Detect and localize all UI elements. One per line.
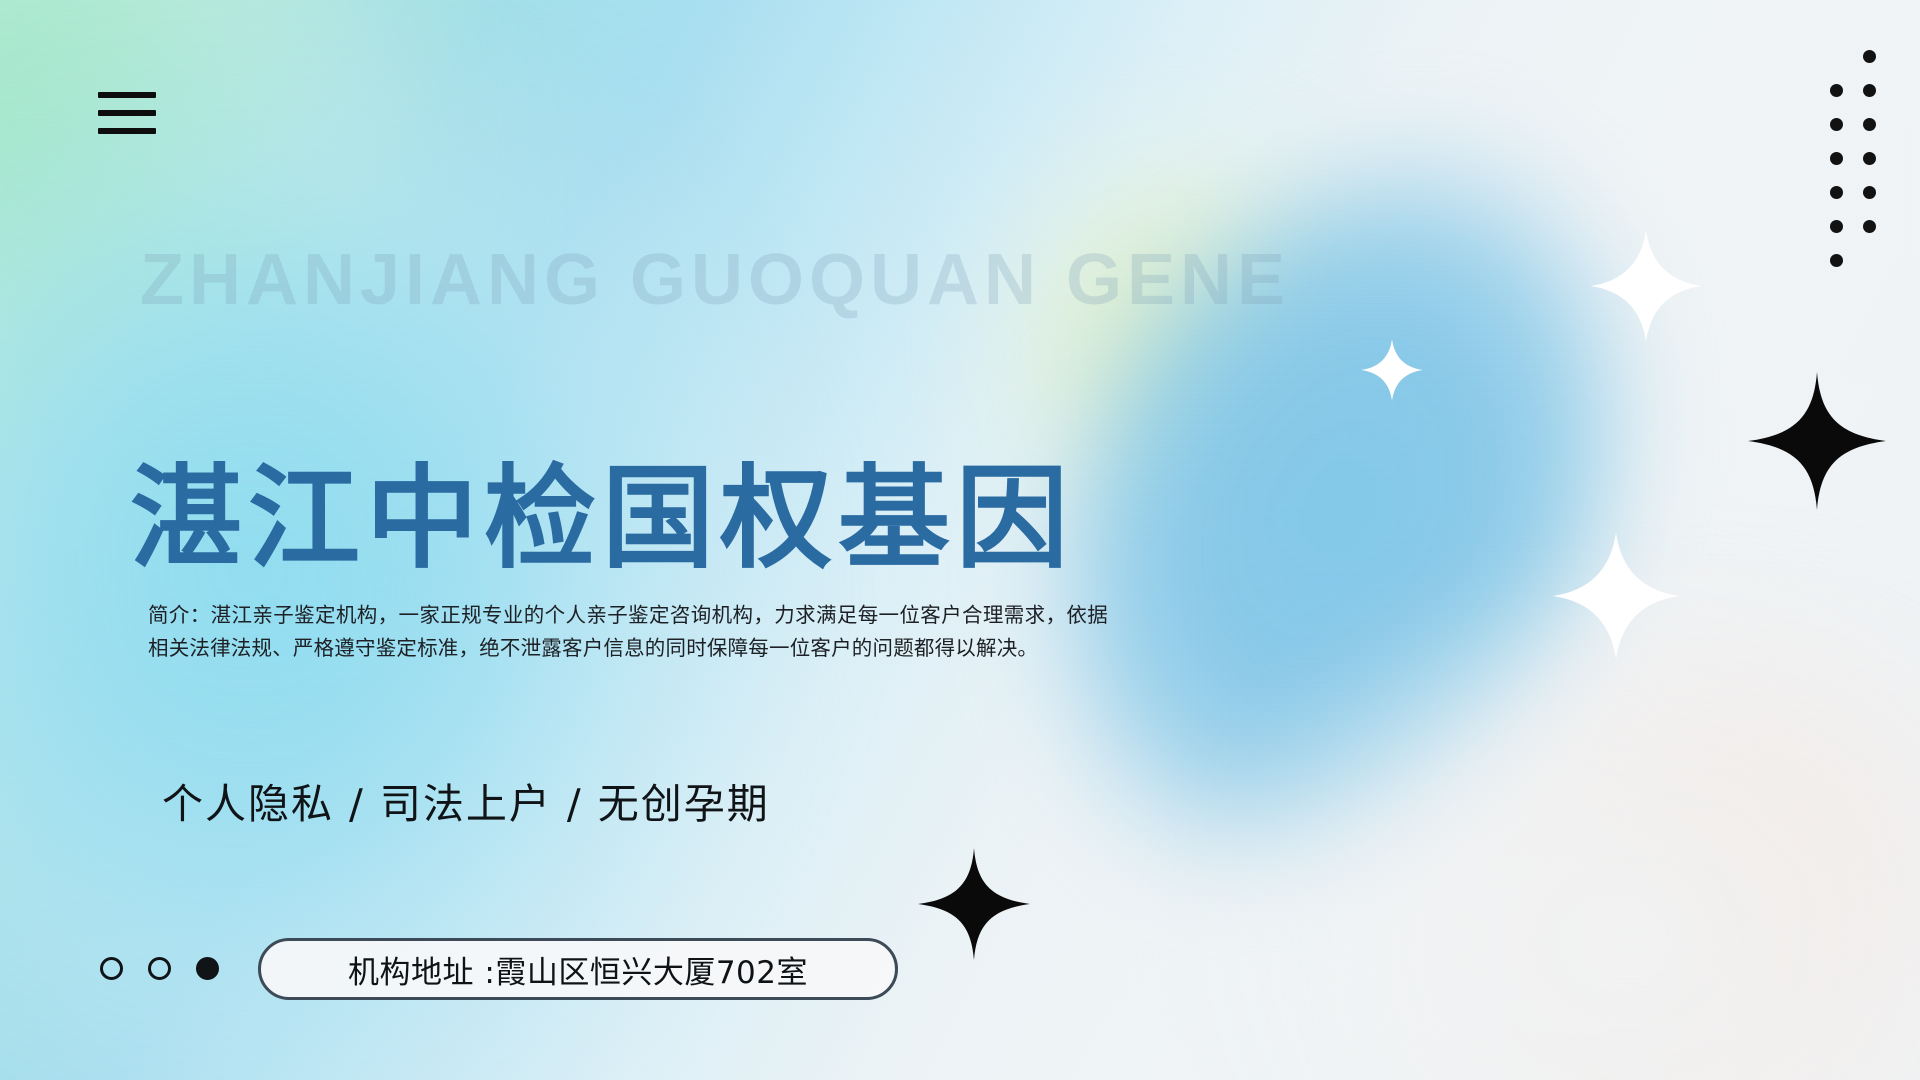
menu-bar-3 (98, 128, 156, 134)
pager-dot-2[interactable] (148, 957, 171, 980)
grid-dot (1830, 152, 1843, 165)
grid-dot (1863, 186, 1876, 199)
menu-bar-2 (98, 110, 156, 116)
grid-dot (1863, 220, 1876, 233)
watermark-text: ZHANJIANG GUOQUAN GENE (140, 244, 1290, 316)
grid-dot (1863, 84, 1876, 97)
grid-dot (1830, 186, 1843, 199)
sparkle-white-large-mid (1550, 530, 1682, 662)
address-pill[interactable]: 机构地址 :霞山区恒兴大厦702室 (258, 938, 898, 1000)
grid-dot (1830, 220, 1843, 233)
grid-dot (1863, 118, 1876, 131)
grid-dot (1830, 254, 1843, 267)
hamburger-menu-icon[interactable] (98, 92, 156, 134)
sparkle-black-bottom (918, 848, 1030, 960)
poster-canvas: ZHANJIANG GUOQUAN GENE 湛江中检国权基因 简介：湛江亲子鉴… (0, 0, 1920, 1080)
grid-dot (1830, 118, 1843, 131)
grid-dot (1863, 152, 1876, 165)
address-label: 机构地址 :霞山区恒兴大厦702室 (348, 947, 808, 992)
page-title: 湛江中检国权基因 (130, 457, 1074, 582)
sparkle-white-large-top (1588, 228, 1704, 344)
pager-dot-1[interactable] (100, 957, 123, 980)
content-layer: ZHANJIANG GUOQUAN GENE 湛江中检国权基因 简介：湛江亲子鉴… (0, 0, 1920, 1080)
grid-dot (1863, 50, 1876, 63)
pagination-dots (100, 957, 219, 980)
services-line: 个人隐私 / 司法上户 / 无创孕期 (162, 770, 770, 830)
sparkle-black-right (1748, 372, 1886, 510)
sparkle-white-small-left (1360, 338, 1424, 402)
description-paragraph: 简介：湛江亲子鉴定机构，一家正规专业的个人亲子鉴定咨询机构，力求满足每一位客户合… (148, 599, 1108, 665)
grid-dot (1830, 84, 1843, 97)
menu-bar-1 (98, 92, 156, 98)
pager-dot-3[interactable] (196, 957, 219, 980)
